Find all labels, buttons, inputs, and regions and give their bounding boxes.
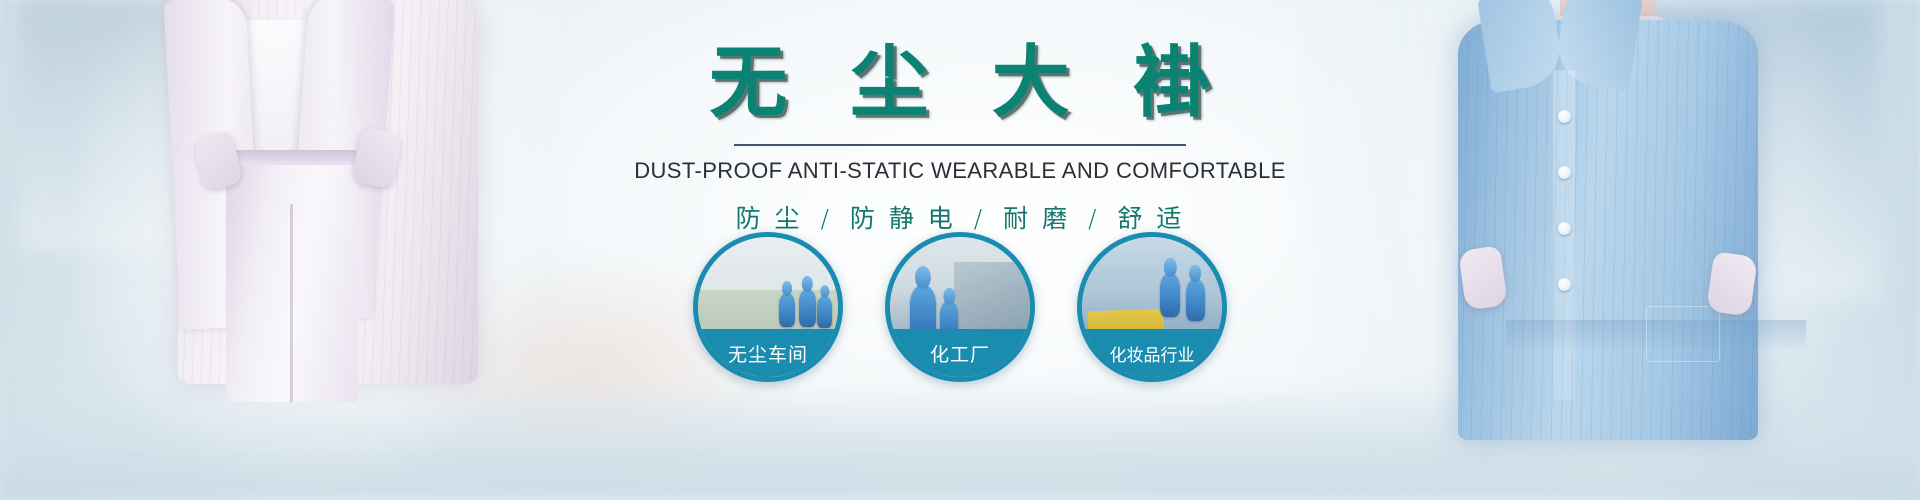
product-banner: 无 尘 大 褂 DUST-PROOF ANTI-STATIC WEARABLE … [0, 0, 1920, 500]
model-left-waistband [226, 150, 358, 165]
tagline-part-4: 舒 适 [1117, 204, 1184, 233]
model-right-glove-left [1458, 245, 1508, 310]
badge-label-cleanroom-workshop: 无尘车间 [698, 329, 838, 377]
badge-label-cosmetics-industry: 化妆品行业 [1082, 329, 1222, 377]
model-left-leg-seam [290, 204, 293, 402]
application-badges: 无尘车间 化工厂 化妆品行业 [693, 232, 1227, 382]
model-blue-lab-coat [1410, 0, 1810, 500]
tagline-separator-2: / [974, 204, 985, 233]
subtitle-english: DUST-PROOF ANTI-STATIC WEARABLE AND COMF… [634, 158, 1286, 184]
badge-chemical-plant[interactable]: 化工厂 [885, 232, 1035, 382]
tagline-part-3: 耐 磨 [1003, 204, 1070, 233]
model-white-cleanroom-suit [120, 0, 540, 500]
title-divider-rule [734, 144, 1186, 146]
tagline-separator-1: / [821, 204, 832, 233]
model-right-button-3 [1558, 222, 1571, 235]
badge-cosmetics-industry[interactable]: 化妆品行业 [1077, 232, 1227, 382]
tagline-part-1: 防 尘 [736, 204, 803, 233]
model-right-pocket [1646, 306, 1720, 362]
worker-figure-icon [1160, 273, 1180, 317]
worker-figure-icon [779, 293, 795, 327]
model-right-button-4 [1558, 278, 1571, 291]
badge-label-chemical-plant: 化工厂 [890, 329, 1030, 377]
page-title: 无 尘 大 褂 [691, 44, 1228, 122]
worker-figure-icon [799, 289, 816, 327]
model-right-button-1 [1558, 110, 1571, 123]
worker-figure-icon [817, 296, 832, 328]
model-right-button-2 [1558, 166, 1571, 179]
badge-cleanroom-workshop[interactable]: 无尘车间 [693, 232, 843, 382]
worker-figure-icon [1186, 279, 1205, 321]
tagline-part-2: 防 静 电 [850, 204, 956, 233]
feature-tagline: 防 尘 / 防 静 电 / 耐 磨 / 舒 适 [736, 199, 1185, 235]
tagline-separator-3: / [1088, 204, 1099, 233]
